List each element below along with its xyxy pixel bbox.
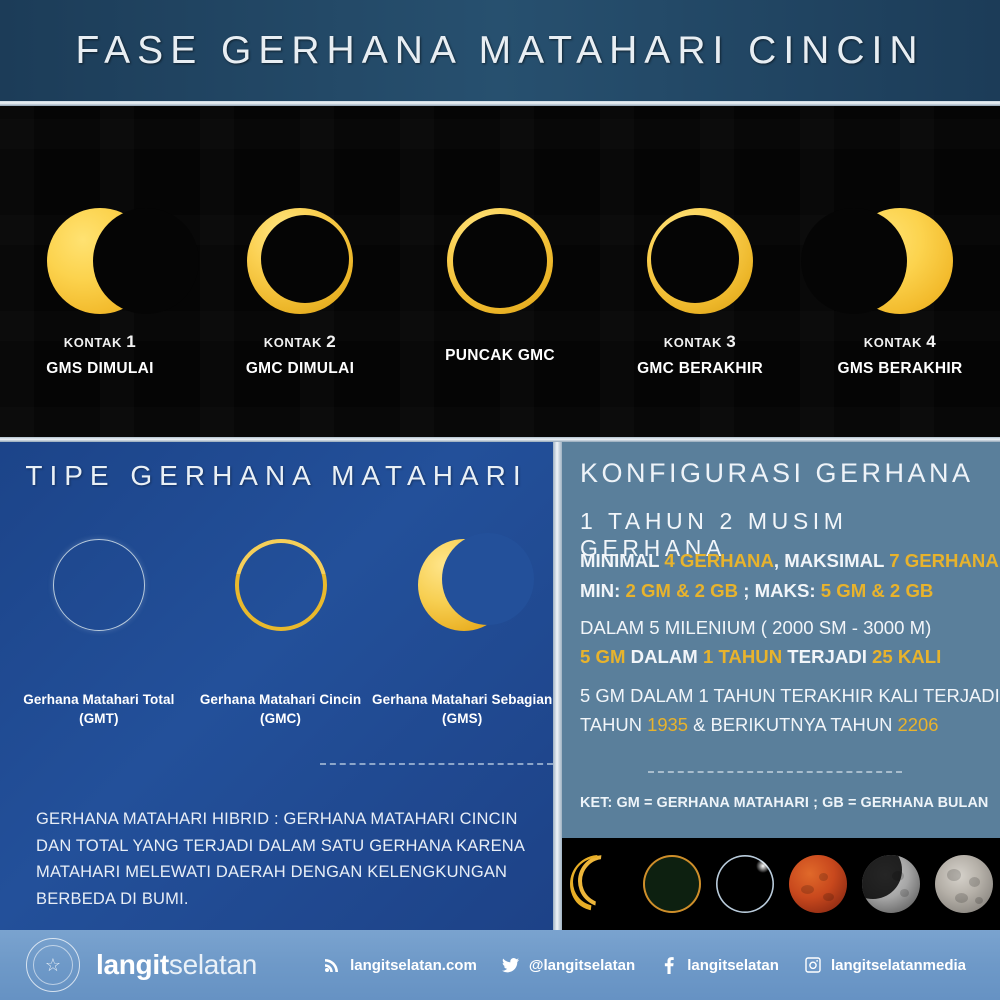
- tipe-types-row: Gerhana Matahari Total (GMT) Gerhana Mat…: [8, 539, 553, 729]
- konfigurasi-millennium-line: DALAM 5 MILENIUM ( 2000 SM - 3000 M): [580, 613, 992, 643]
- social-label: @langitselatan: [529, 957, 635, 974]
- social-label: langitselatanmedia: [831, 957, 966, 974]
- phase-contact-word: KONTAK: [264, 335, 322, 350]
- tipe-name: Gerhana Matahari Total: [23, 692, 174, 707]
- phase-label: KONTAK 3 GMC BERAKHIR: [637, 330, 763, 380]
- phase-item-contact-4: KONTAK 4 GMS BERAKHIR: [800, 106, 1000, 437]
- tipe-item-gmt: Gerhana Matahari Total (GMT): [8, 539, 190, 729]
- blood-moon-photo: [789, 855, 847, 913]
- konfigurasi-row-min-max-types: MIN: 2 GM & 2 GB ; MAKS: 5 GM & 2 GB: [580, 576, 992, 606]
- total-eclipse-circle-icon: [53, 539, 145, 631]
- phase-item-contact-3: KONTAK 3 GMC BERAKHIR: [600, 106, 800, 437]
- poster-header: FASE GERHANA MATAHARI CINCIN: [0, 0, 1000, 101]
- tipe-caption: Gerhana Matahari Total (GMT): [23, 690, 174, 729]
- tipe-caption: Gerhana Matahari Sebagian (GMS): [372, 690, 552, 729]
- partial-lunar-eclipse-photo: [862, 855, 920, 913]
- rss-icon: [323, 956, 341, 974]
- section-divider: [0, 437, 1000, 442]
- tipe-caption: Gerhana Matahari Cincin (GMC): [200, 690, 361, 729]
- brand-block: ☆ langitselatan: [26, 938, 257, 992]
- phase-contact-word: KONTAK: [64, 335, 122, 350]
- phase-item-contact-2: KONTAK 2 GMC DIMULAI: [200, 106, 400, 437]
- phase-contact-word: KONTAK: [664, 335, 722, 350]
- langitselatan-seal-icon: ☆: [26, 938, 80, 992]
- partial-sun-bite-left-icon: [847, 208, 953, 314]
- phase-label: KONTAK 4 GMS BERAKHIR: [837, 330, 962, 380]
- social-links: langitselatan.com @langitselatan langits…: [323, 956, 1000, 974]
- page-title: FASE GERHANA MATAHARI CINCIN: [76, 29, 925, 73]
- konfigurasi-legend: KET: GM = GERHANA MATAHARI ; GB = GERHAN…: [580, 795, 992, 811]
- konfigurasi-body: MINIMAL 4 GERHANA, MAKSIMAL 7 GERHANA MI…: [580, 546, 992, 740]
- brand-name-bold: langit: [96, 949, 169, 980]
- instagram-icon: [804, 956, 822, 974]
- annular-ring-thick-right-icon: [647, 208, 753, 314]
- right-panel-dashed-divider: [648, 771, 902, 773]
- full-moon-photo: [935, 855, 993, 913]
- tipe-abbr: (GMT): [79, 711, 118, 726]
- eclipse-photo-strip: [562, 838, 1000, 930]
- phase-contact-word: KONTAK: [864, 335, 922, 350]
- left-panel-dashed-divider: [320, 763, 553, 765]
- phase-caption: GMS BERAKHIR: [837, 358, 962, 380]
- annular-eclipse-ring-icon: [235, 539, 327, 631]
- infographic-poster: FASE GERHANA MATAHARI CINCIN KONTAK 1 GM…: [0, 0, 1000, 1000]
- social-label: langitselatan.com: [350, 957, 477, 974]
- social-link-instagram[interactable]: langitselatanmedia: [804, 956, 966, 974]
- phase-contact-number: 4: [926, 332, 936, 351]
- phase-contact-number: 1: [126, 332, 136, 351]
- konfigurasi-last-occurrence: 5 GM DALAM 1 TAHUN TERAKHIR KALI TERJADI…: [580, 681, 992, 740]
- social-link-facebook[interactable]: langitselatan: [660, 956, 779, 974]
- diamond-ring-eclipse-photo: [716, 855, 774, 913]
- tipe-abbr: (GMC): [260, 711, 301, 726]
- social-label: langitselatan: [687, 957, 779, 974]
- tipe-item-gms: Gerhana Matahari Sebagian (GMS): [371, 539, 553, 729]
- green-filtered-eclipse-photo: [643, 855, 701, 913]
- partial-sun-bite-right-icon: [47, 208, 153, 314]
- annular-ring-thick-left-icon: [247, 208, 353, 314]
- annular-eclipse-photo: [570, 855, 628, 913]
- phase-caption: GMC DIMULAI: [246, 358, 354, 380]
- phase-label: KONTAK 1 GMS DIMULAI: [46, 330, 154, 380]
- konfigurasi-row-min-max-count: MINIMAL 4 GERHANA, MAKSIMAL 7 GERHANA: [580, 546, 992, 576]
- hybrid-eclipse-note: GERHANA MATAHARI HIBRID : GERHANA MATAHA…: [36, 806, 536, 913]
- tipe-panel-title: TIPE GERHANA MATAHARI: [0, 460, 553, 492]
- tipe-name: Gerhana Matahari Sebagian: [372, 692, 552, 707]
- tipe-abbr: (GMS): [442, 711, 482, 726]
- phase-label: KONTAK 2 GMC DIMULAI: [246, 330, 354, 380]
- phase-caption: GMS DIMULAI: [46, 358, 154, 380]
- phase-contact-number: 3: [726, 332, 736, 351]
- phase-item-contact-1: KONTAK 1 GMS DIMULAI: [0, 106, 200, 437]
- brand-wordmark: langitselatan: [96, 949, 257, 981]
- konfigurasi-millennium-row: 5 GM DALAM 1 TAHUN TERJADI 25 KALI: [580, 642, 992, 672]
- phase-caption: PUNCAK GMC: [445, 345, 555, 367]
- phase-contact-number: 2: [326, 332, 336, 351]
- tipe-name: Gerhana Matahari Cincin: [200, 692, 361, 707]
- partial-eclipse-crescent-icon: [416, 539, 508, 631]
- social-link-twitter[interactable]: @langitselatan: [502, 956, 635, 974]
- konfigurasi-panel-title: KONFIGURASI GERHANA: [580, 458, 984, 489]
- phase-caption: GMC BERAKHIR: [637, 358, 763, 380]
- social-link-website[interactable]: langitselatan.com: [323, 956, 477, 974]
- twitter-icon: [502, 956, 520, 974]
- phase-label: PUNCAK GMC: [445, 342, 555, 367]
- brand-name-light: selatan: [169, 949, 257, 980]
- annular-ring-even-icon: [447, 208, 553, 314]
- facebook-icon: [660, 956, 678, 974]
- eclipse-phases-section: KONTAK 1 GMS DIMULAI KONTAK 2 GMC DIMULA…: [0, 106, 1000, 437]
- phase-item-peak: PUNCAK GMC: [400, 106, 600, 437]
- tipe-item-gmc: Gerhana Matahari Cincin (GMC): [190, 539, 372, 729]
- panel-vertical-divider: [553, 442, 562, 930]
- poster-footer: ☆ langitselatan langitselatan.com @langi…: [0, 930, 1000, 1000]
